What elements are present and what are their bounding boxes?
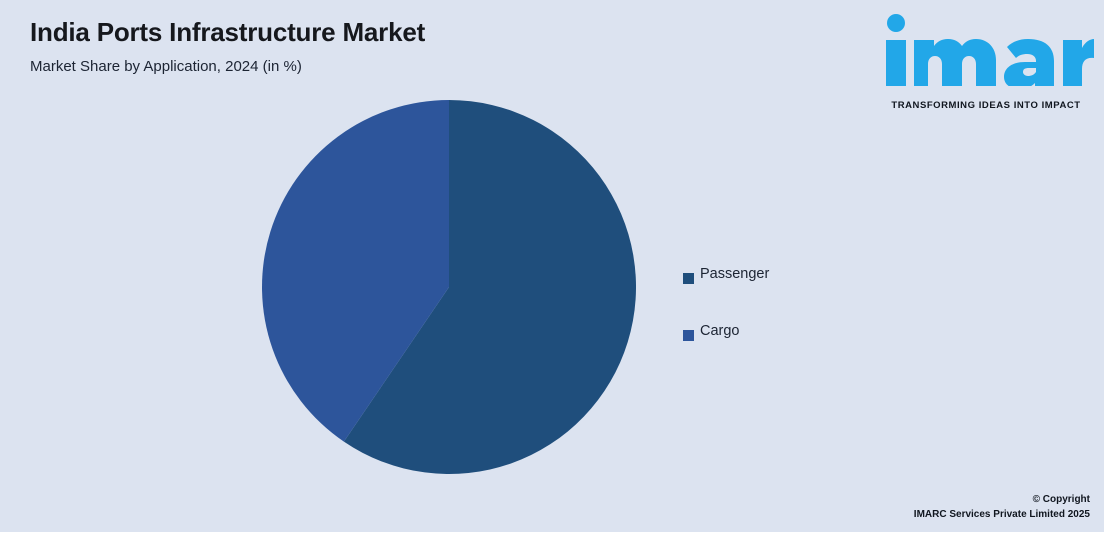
copyright-line-2: IMARC Services Private Limited 2025 [914, 507, 1090, 522]
chart-canvas: India Ports Infrastructure Market Market… [0, 0, 1104, 538]
legend-label-cargo: Cargo [700, 323, 740, 339]
pie-slices [262, 100, 636, 474]
pie-chart [262, 100, 636, 474]
copyright-block: © Copyright IMARC Services Private Limit… [914, 492, 1090, 522]
legend-swatch-cargo [683, 330, 694, 341]
chart-subtitle: Market Share by Application, 2024 (in %) [30, 58, 302, 75]
logo-dot-icon [887, 14, 905, 32]
page-title: India Ports Infrastructure Market [30, 17, 425, 48]
logo-tagline: TRANSFORMING IDEAS INTO IMPACT [878, 100, 1094, 111]
imarc-wordmark-icon [876, 12, 1094, 86]
pie-chart-svg [262, 100, 636, 474]
copyright-line-1: © Copyright [914, 492, 1090, 507]
legend-label-passenger: Passenger [700, 266, 769, 282]
imarc-logo: TRANSFORMING IDEAS INTO IMPACT [876, 12, 1094, 104]
legend-swatch-passenger [683, 273, 694, 284]
